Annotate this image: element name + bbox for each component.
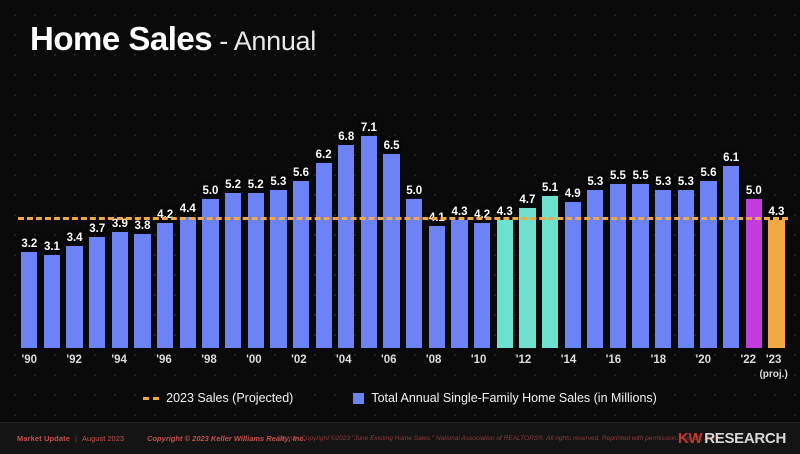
x-axis-tick: '23(proj.)	[759, 350, 787, 384]
chart-bar: 6.5	[383, 154, 399, 348]
chart-bar: 5.3	[270, 190, 286, 348]
bar-slot: 3.4	[63, 112, 86, 348]
blue-square-icon	[353, 393, 364, 404]
bar-value-label: 4.4	[180, 203, 196, 215]
footer-source: Source: Copyright ©2023 "June Existing H…	[277, 435, 721, 442]
x-axis-tick	[670, 350, 692, 384]
bar-value-label: 5.3	[678, 176, 694, 188]
chart-bar: 3.4	[66, 246, 82, 348]
bar-value-label: 6.2	[316, 149, 332, 161]
x-axis-tick-sublabel: (proj.)	[759, 369, 787, 380]
title-subtitle: - Annual	[212, 26, 316, 56]
x-axis-tick	[715, 350, 737, 384]
bar-slot: 6.2	[312, 112, 335, 348]
x-axis-tick: '20	[692, 350, 714, 384]
chart-bar: 3.9	[112, 232, 128, 349]
dashed-line-icon	[143, 397, 159, 400]
x-axis-tick: '98	[198, 350, 220, 384]
bar-value-label: 5.3	[270, 176, 286, 188]
x-axis-tick: '90	[18, 350, 40, 384]
bar-value-label: 5.5	[633, 170, 649, 182]
chart-bar: 6.8	[338, 145, 354, 348]
bar-slot: 5.1	[539, 112, 562, 348]
x-axis-tick: '18	[647, 350, 669, 384]
x-axis-tick: '92	[63, 350, 85, 384]
bar-slot: 5.2	[222, 112, 245, 348]
x-axis-tick	[130, 350, 152, 384]
x-axis-tick-label: '22	[740, 354, 756, 366]
chart-bar: 4.2	[157, 223, 173, 348]
chart-bar: 7.1	[361, 136, 377, 348]
x-axis-tick	[535, 350, 557, 384]
x-axis-tick-label: '04	[336, 354, 352, 366]
x-axis-tick-label: '00	[246, 354, 262, 366]
x-axis-tick	[400, 350, 422, 384]
logo-kw-text: KW	[678, 430, 702, 447]
chart-bar: 5.6	[293, 181, 309, 348]
bar-value-label: 5.6	[701, 167, 717, 179]
x-axis-tick: '14	[557, 350, 579, 384]
x-axis-tick	[175, 350, 197, 384]
chart-bar: 4.2	[474, 223, 490, 348]
x-axis-tick: '04	[333, 350, 355, 384]
chart-bar: 4.3	[451, 220, 467, 348]
bar-slot: 5.0	[403, 112, 426, 348]
x-axis-tick-label: '14	[561, 354, 577, 366]
bar-slot: 4.9	[561, 112, 584, 348]
bar-slot: 5.3	[584, 112, 607, 348]
legend-label-total-sales: Total Annual Single-Family Home Sales (i…	[371, 391, 657, 405]
bar-slot: 5.3	[267, 112, 290, 348]
chart-bar: 5.1	[542, 196, 558, 348]
chart-bar: 4.3	[768, 220, 784, 348]
bar-value-label: 4.3	[451, 206, 467, 218]
x-axis-tick-label: '06	[381, 354, 397, 366]
chart-bar: 3.7	[89, 237, 105, 348]
x-axis-tick-label: '18	[651, 354, 667, 366]
x-axis-tick	[625, 350, 647, 384]
x-axis-tick: '16	[602, 350, 624, 384]
x-axis-tick-label: '90	[21, 354, 37, 366]
bar-chart: 3.23.13.43.73.93.84.24.45.05.25.25.35.66…	[18, 112, 788, 348]
bar-slot: 4.2	[154, 112, 177, 348]
bar-value-label: 5.3	[587, 176, 603, 188]
bar-slot: 5.5	[607, 112, 630, 348]
bar-value-label: 3.1	[44, 241, 60, 253]
x-axis-tick: '08	[422, 350, 444, 384]
bar-slot: 5.3	[675, 112, 698, 348]
x-axis-tick-label: '20	[696, 354, 712, 366]
x-axis-tick	[355, 350, 377, 384]
title-main: Home Sales	[30, 20, 212, 57]
bar-value-label: 5.1	[542, 182, 558, 194]
x-axis-tick	[580, 350, 602, 384]
bar-value-label: 4.2	[474, 209, 490, 221]
x-axis-tick-label: '23	[766, 354, 782, 366]
chart-bar: 5.3	[655, 190, 671, 348]
bar-value-label: 5.2	[225, 179, 241, 191]
bar-slot: 5.0	[743, 112, 766, 348]
bar-value-label: 5.5	[610, 170, 626, 182]
x-axis-tick: '12	[512, 350, 534, 384]
bar-value-label: 5.6	[293, 167, 309, 179]
x-axis-tick: '06	[378, 350, 400, 384]
bar-slot: 4.1	[426, 112, 449, 348]
bar-slot: 4.3	[493, 112, 516, 348]
legend-item-total-sales: Total Annual Single-Family Home Sales (i…	[353, 391, 657, 405]
bar-slot: 5.6	[697, 112, 720, 348]
bar-value-label: 6.8	[338, 131, 354, 143]
x-axis-tick	[40, 350, 62, 384]
bar-slot: 3.7	[86, 112, 109, 348]
footer-left-group: Market Update | August 2023 Copyright © …	[17, 434, 306, 443]
x-axis-tick	[310, 350, 332, 384]
bar-slot: 4.4	[176, 112, 199, 348]
bar-value-label: 5.0	[406, 185, 422, 197]
chart-bar: 4.4	[180, 217, 196, 348]
bar-value-label: 5.0	[746, 185, 762, 197]
chart-bar: 4.9	[565, 202, 581, 348]
bar-slot: 7.1	[358, 112, 381, 348]
bar-value-label: 7.1	[361, 122, 377, 134]
x-axis-tick: '00	[243, 350, 265, 384]
legend-item-projected: 2023 Sales (Projected)	[143, 391, 293, 405]
chart-bar: 5.2	[225, 193, 241, 348]
x-axis-tick: '02	[288, 350, 310, 384]
x-axis-tick	[220, 350, 242, 384]
x-axis-tick-label: '10	[471, 354, 487, 366]
footer-market-update: Market Update	[17, 434, 70, 443]
x-axis-tick-label: '16	[606, 354, 622, 366]
x-axis: '90'92'94'96'98'00'02'04'06'08'10'12'14'…	[18, 350, 788, 384]
bar-value-label: 3.8	[135, 220, 151, 232]
legend-label-projected: 2023 Sales (Projected)	[166, 391, 293, 405]
bar-value-label: 6.1	[723, 152, 739, 164]
bar-slot: 5.0	[199, 112, 222, 348]
chart-bar: 5.0	[202, 199, 218, 348]
bar-slot: 5.2	[244, 112, 267, 348]
bar-value-label: 4.9	[565, 188, 581, 200]
bar-value-label: 4.3	[768, 206, 784, 218]
chart-bar: 5.0	[746, 199, 762, 348]
bar-slot: 4.3	[448, 112, 471, 348]
bar-value-label: 6.5	[384, 140, 400, 152]
x-axis-tick: '10	[467, 350, 489, 384]
chart-bar: 5.0	[406, 199, 422, 348]
bar-value-label: 4.7	[519, 194, 535, 206]
x-axis-tick-label: '08	[426, 354, 442, 366]
bar-value-label: 5.0	[202, 185, 218, 197]
x-axis-tick	[265, 350, 287, 384]
slide-canvas: Home Sales - Annual 3.23.13.43.73.93.84.…	[0, 0, 800, 454]
logo-research-text: RESEARCH	[704, 430, 786, 447]
chart-bar: 6.2	[316, 163, 332, 348]
bar-slot: 5.3	[652, 112, 675, 348]
bar-value-label: 4.2	[157, 209, 173, 221]
x-axis-tick: '96	[153, 350, 175, 384]
chart-bar: 5.5	[610, 184, 626, 348]
x-axis-tick	[490, 350, 512, 384]
bar-value-label: 3.9	[112, 218, 128, 230]
bar-slot: 3.2	[18, 112, 41, 348]
chart-bar: 5.3	[678, 190, 694, 348]
bar-slot: 5.6	[290, 112, 313, 348]
chart-bar: 3.1	[44, 255, 60, 348]
bar-slot: 6.8	[335, 112, 358, 348]
x-axis-tick-label: '02	[291, 354, 307, 366]
chart-legend: 2023 Sales (Projected) Total Annual Sing…	[0, 391, 800, 405]
chart-bar: 6.1	[723, 166, 739, 348]
x-axis-tick	[445, 350, 467, 384]
x-axis-tick-label: '96	[156, 354, 172, 366]
chart-bar: 5.6	[700, 181, 716, 348]
chart-plot-area: 3.23.13.43.73.93.84.24.45.05.25.25.35.66…	[18, 112, 788, 348]
x-axis-tick: '22	[737, 350, 759, 384]
chart-bar: 5.3	[587, 190, 603, 348]
x-axis-tick-label: '92	[66, 354, 82, 366]
bar-slot: 3.8	[131, 112, 154, 348]
bar-value-label: 4.1	[429, 212, 445, 224]
bar-value-label: 5.2	[248, 179, 264, 191]
x-axis-tick: '94	[108, 350, 130, 384]
bar-value-label: 3.7	[89, 223, 105, 235]
x-axis-tick	[85, 350, 107, 384]
chart-bar: 3.8	[134, 234, 150, 348]
bar-slot: 3.9	[109, 112, 132, 348]
chart-bar: 3.2	[21, 252, 37, 348]
x-axis-tick-label: '98	[201, 354, 217, 366]
bar-slot: 5.5	[629, 112, 652, 348]
chart-bar: 5.2	[248, 193, 264, 348]
bar-slot: 4.2	[471, 112, 494, 348]
bar-slot: 4.7	[516, 112, 539, 348]
bar-value-label: 4.3	[497, 206, 513, 218]
bar-slot: 6.5	[380, 112, 403, 348]
bar-value-label: 5.3	[655, 176, 671, 188]
kw-research-logo: KW RESEARCH	[678, 430, 786, 447]
bar-slot: 4.3	[765, 112, 788, 348]
bar-slot: 6.1	[720, 112, 743, 348]
bar-value-label: 3.2	[21, 238, 37, 250]
x-axis-tick-label: '12	[516, 354, 532, 366]
footer-bar: Market Update | August 2023 Copyright © …	[0, 422, 800, 454]
footer-separator: |	[75, 434, 77, 443]
chart-bar: 4.1	[429, 226, 445, 348]
footer-date: August 2023	[82, 434, 124, 443]
chart-bar: 4.7	[519, 208, 535, 348]
x-axis-tick-label: '94	[111, 354, 127, 366]
chart-bar: 4.3	[497, 220, 513, 348]
bar-slot: 3.1	[41, 112, 64, 348]
page-title: Home Sales - Annual	[30, 20, 316, 58]
chart-bar: 5.5	[632, 184, 648, 348]
bar-value-label: 3.4	[67, 232, 83, 244]
